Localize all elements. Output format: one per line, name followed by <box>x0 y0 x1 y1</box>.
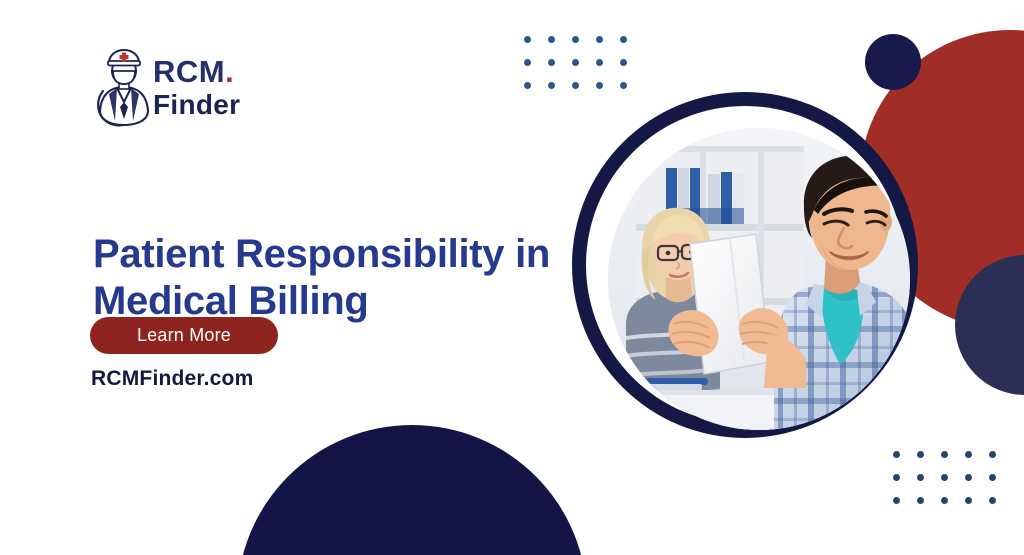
dot <box>548 36 555 43</box>
dot <box>596 59 603 66</box>
dot <box>989 497 996 504</box>
dot <box>893 497 900 504</box>
dot <box>989 474 996 481</box>
dot <box>524 36 531 43</box>
hero-photo <box>608 128 910 430</box>
dot <box>620 59 627 66</box>
dot <box>572 82 579 89</box>
dot <box>524 59 531 66</box>
brand-logo-line1: RCM. <box>153 56 240 87</box>
dot-grid-bottom-decoration <box>893 451 996 504</box>
hero-photo-illustration <box>608 128 910 430</box>
dot <box>572 36 579 43</box>
dot <box>965 497 972 504</box>
brand-logo-period: . <box>225 54 234 89</box>
dot <box>620 82 627 89</box>
dot <box>941 474 948 481</box>
dot <box>917 497 924 504</box>
navy-bottom-circle-decoration <box>237 425 587 555</box>
dot <box>596 36 603 43</box>
hero-photo-ring <box>572 92 918 438</box>
dot <box>596 82 603 89</box>
site-url-text: RCMFinder.com <box>91 367 253 391</box>
dot <box>965 474 972 481</box>
dot <box>917 451 924 458</box>
brand-logo-text: RCM. Finder <box>153 56 240 119</box>
dot <box>524 82 531 89</box>
brand-logo-rcm: RCM <box>153 54 225 89</box>
dot <box>965 451 972 458</box>
dot <box>572 59 579 66</box>
dot <box>893 474 900 481</box>
dot <box>893 451 900 458</box>
dot <box>941 451 948 458</box>
doctor-avatar-icon <box>93 47 155 127</box>
brand-logo-line2: Finder <box>153 91 240 119</box>
dot <box>917 474 924 481</box>
dot <box>989 451 996 458</box>
learn-more-button[interactable]: Learn More <box>90 317 278 354</box>
dot-grid-top-decoration <box>524 36 627 89</box>
dot <box>941 497 948 504</box>
promo-banner: RCM. Finder Patient Responsibility in Me… <box>0 0 1024 555</box>
dot <box>620 36 627 43</box>
dot <box>548 59 555 66</box>
dot <box>548 82 555 89</box>
page-title: Patient Responsibility in Medical Billin… <box>93 231 563 325</box>
brand-logo[interactable]: RCM. Finder <box>93 44 333 130</box>
hero-photo-gap <box>586 106 904 424</box>
navy-small-circle-decoration <box>865 34 921 90</box>
